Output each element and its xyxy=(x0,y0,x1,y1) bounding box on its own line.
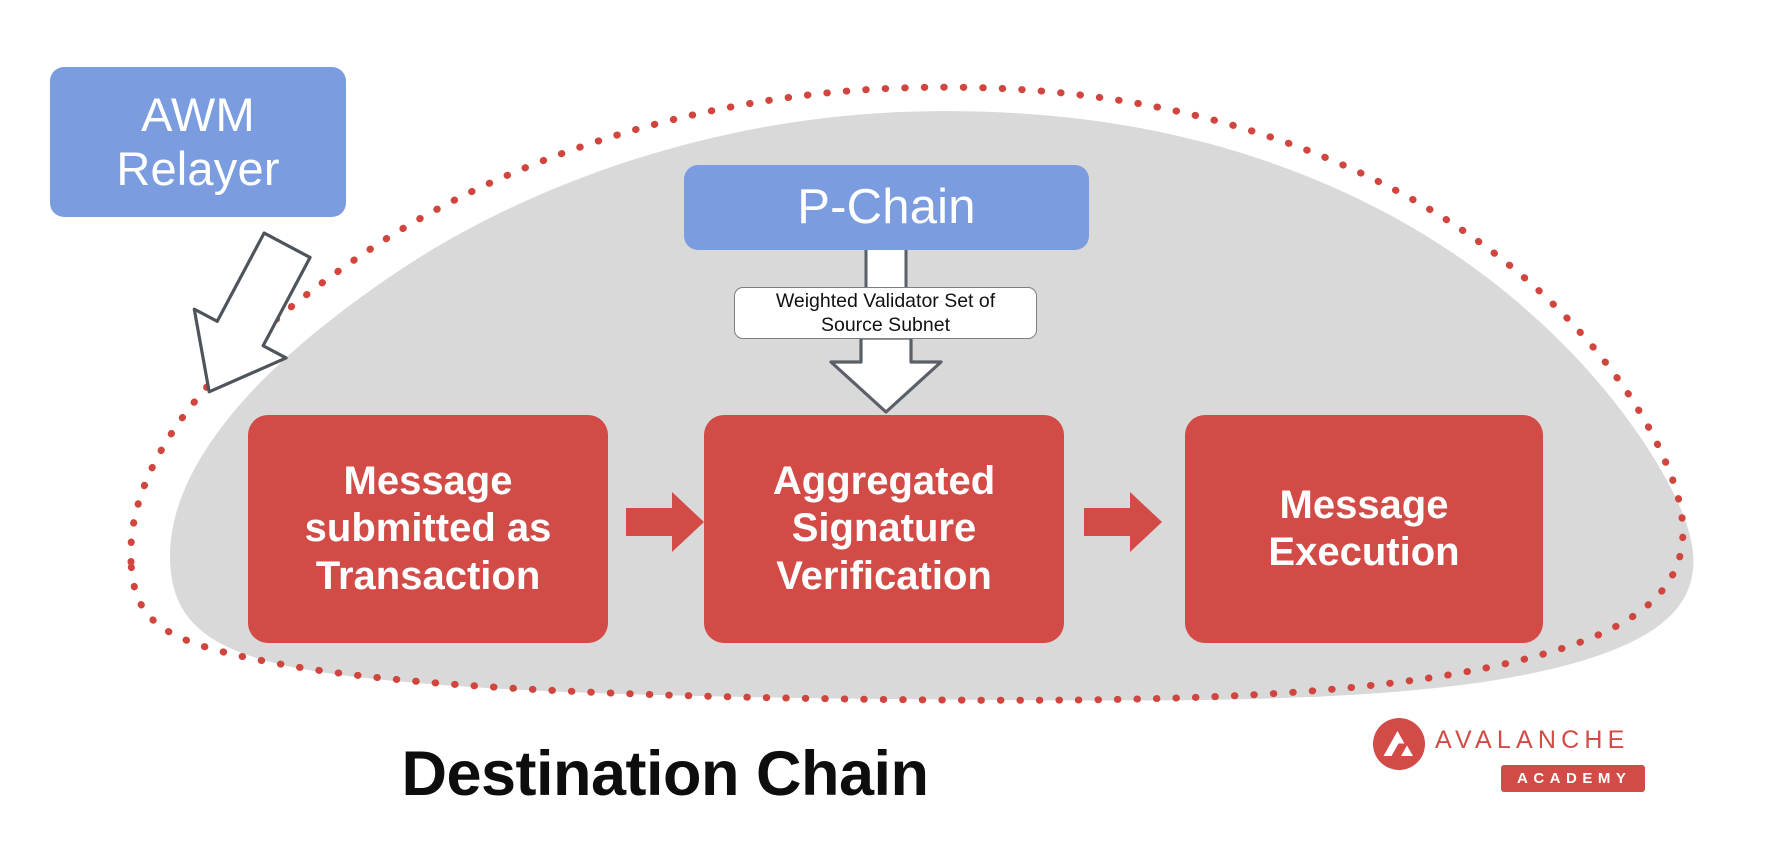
avalanche-academy-logo: AVALANCHE ACADEMY xyxy=(1373,712,1643,794)
awm-relayer-label: AWM Relayer xyxy=(116,88,279,195)
step-message-submitted-as-transaction[interactable]: Message submitted as Transaction xyxy=(248,415,608,643)
academy-badge: ACADEMY xyxy=(1501,765,1645,792)
step-aggregated-signature-verification[interactable]: Aggregated Signature Verification xyxy=(704,415,1064,643)
page-title: Destination Chain xyxy=(0,738,1330,810)
pchain-to-validator-stem xyxy=(866,250,906,290)
p-chain-label: P-Chain xyxy=(797,180,975,236)
node-awm-relayer[interactable]: AWM Relayer xyxy=(50,67,346,217)
step-message-execution[interactable]: Message Execution xyxy=(1185,415,1543,643)
node-weighted-validator-set[interactable]: Weighted Validator Set of Source Subnet xyxy=(734,287,1037,339)
diagram-canvas: AWM Relayer P-Chain Weighted Validator S… xyxy=(0,0,1792,848)
avalanche-wordmark: AVALANCHE xyxy=(1435,726,1630,755)
avalanche-triangle-icon xyxy=(1373,718,1425,770)
validator-set-label: Weighted Validator Set of Source Subnet xyxy=(776,289,995,338)
step-1-label: Message submitted as Transaction xyxy=(305,458,552,600)
step-2-label: Aggregated Signature Verification xyxy=(773,458,995,600)
node-p-chain[interactable]: P-Chain xyxy=(684,165,1089,250)
step-3-label: Message Execution xyxy=(1268,482,1459,576)
